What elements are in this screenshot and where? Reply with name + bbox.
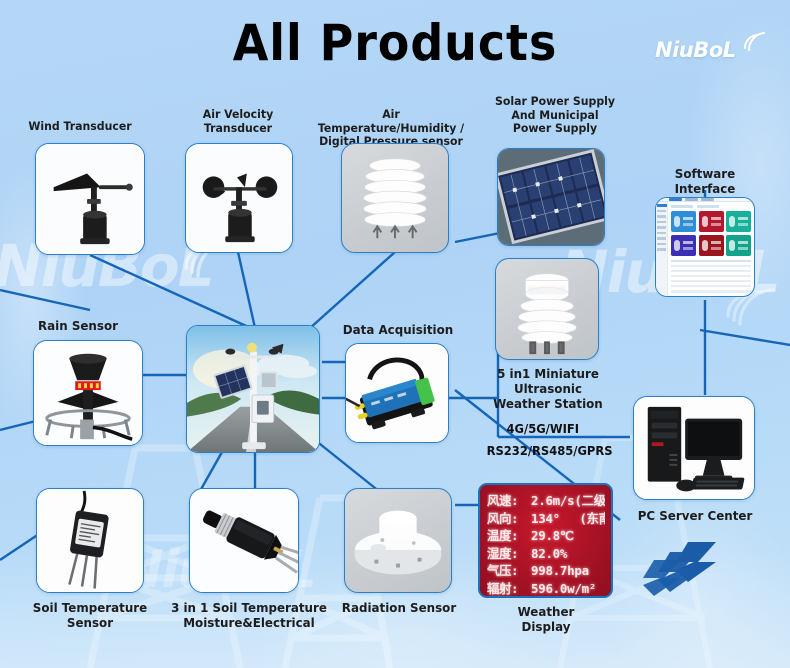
led-value: 998.7hpa	[531, 563, 589, 578]
card-pc-server-center[interactable]	[633, 396, 755, 500]
anemometer-image	[186, 144, 292, 252]
table-row	[671, 280, 751, 283]
caption-software-interface: Software Interface	[643, 166, 767, 196]
led-value: 134° (东南)	[531, 508, 605, 526]
led-label: 辐射:	[487, 578, 531, 596]
rain-gauge-image	[34, 341, 142, 445]
card-rain-sensor[interactable]	[33, 340, 143, 446]
radiation-sensor-image	[345, 489, 451, 592]
card-soil-temperature-sensor[interactable]	[36, 488, 144, 593]
caption-ultrasonic-weather-station: 5 in1 Miniature Ultrasonic Weather Stati…	[466, 366, 629, 411]
software-breadcrumb	[671, 205, 751, 208]
card-air-velocity-transducer[interactable]	[185, 143, 293, 253]
card-weather-display[interactable]: 风速: 2.6m/s(二级) 风向: 134° (东南) 温度: 29.8℃ 湿…	[478, 483, 613, 598]
led-row: 风向: 134° (东南)	[487, 508, 605, 526]
ultrasonic-station-image	[496, 259, 598, 359]
led-row: 温度: 29.8℃	[487, 525, 605, 543]
led-label: 风向:	[487, 508, 531, 526]
metric-tile[interactable]	[699, 235, 724, 256]
caption-pc-server-center: PC Server Center	[630, 508, 759, 523]
led-value: 596.0w/m²	[531, 581, 596, 596]
radiation-shield-image	[342, 144, 448, 252]
card-ultrasonic-weather-station[interactable]	[495, 258, 599, 360]
sidebar-item[interactable]	[657, 232, 666, 235]
metric-tile[interactable]	[726, 235, 751, 256]
caption-radiation-sensor: Radiation Sensor	[340, 600, 458, 615]
led-label: 气压:	[487, 560, 531, 578]
wind-vane-image	[36, 144, 144, 254]
caption-soil-temperature-sensor: Soil Temperature Sensor	[9, 600, 171, 630]
sidebar-item[interactable]	[657, 226, 666, 229]
caption-rain-sensor: Rain Sensor	[21, 318, 135, 333]
tab-tertiary[interactable]	[701, 198, 714, 201]
caption-data-acquisition: Data Acquisition	[336, 322, 460, 337]
sidebar-item[interactable]	[657, 221, 666, 224]
led-row: 气压: 998.7hpa	[487, 560, 605, 578]
breadcrumb-segment	[697, 205, 719, 208]
table-row	[671, 285, 751, 288]
card-air-temperature-humidity-pressure[interactable]	[341, 143, 449, 253]
card-solar-power-supply[interactable]	[497, 148, 605, 246]
tab-secondary[interactable]	[685, 198, 698, 201]
table-row	[671, 290, 751, 293]
card-data-acquisition[interactable]	[345, 343, 449, 443]
brand-logo: NiuBoL	[655, 38, 736, 62]
pc-server-image	[634, 397, 754, 499]
sidebar-item[interactable]	[657, 237, 666, 240]
led-label: 湿度:	[487, 543, 531, 561]
caption-soil-3in1-sensor: 3 in 1 Soil Temperature Moisture&Electri…	[170, 600, 328, 630]
metric-tile[interactable]	[671, 211, 696, 232]
led-row: 风速: 2.6m/s(二级)	[487, 490, 605, 508]
caption-solar-power-supply: Solar Power Supply And Municipal Power S…	[489, 95, 622, 136]
brand-signal-icon	[740, 30, 766, 52]
caption-wind-transducer: Wind Transducer	[14, 120, 147, 134]
sidebar-item[interactable]	[657, 248, 666, 251]
metric-tile[interactable]	[671, 235, 696, 256]
table-row	[671, 270, 751, 273]
brand-logo-text: NiuBoL	[655, 38, 736, 62]
card-software-interface[interactable]	[655, 197, 755, 297]
page-title: All Products	[32, 14, 759, 72]
metric-tile[interactable]	[726, 211, 751, 232]
card-center-weather-station[interactable]	[186, 325, 320, 453]
software-metric-tiles	[671, 211, 751, 256]
table-row	[671, 275, 751, 278]
label-wireless-protocols: 4G/5G/WIFI	[507, 422, 580, 436]
tab-active[interactable]	[669, 198, 682, 201]
solar-panel-image	[498, 149, 604, 245]
led-label: 风速:	[487, 490, 531, 508]
led-value: 29.8℃	[531, 528, 574, 543]
led-row: 辐射: 596.0w/m²	[487, 578, 605, 596]
breadcrumb-segment	[671, 205, 693, 208]
software-sidebar	[656, 202, 668, 297]
caption-air-velocity-transducer: Air Velocity Transducer	[176, 108, 300, 135]
led-value: 82.0%	[531, 546, 567, 561]
sidebar-item[interactable]	[657, 215, 666, 218]
sidebar-item[interactable]	[657, 204, 667, 207]
weather-station-photo	[187, 326, 319, 452]
metric-tile[interactable]	[699, 211, 724, 232]
led-value: 2.6m/s(二级)	[531, 490, 605, 508]
chevron-arrows-icon	[640, 540, 730, 600]
card-radiation-sensor[interactable]	[344, 488, 452, 593]
label-wired-protocols: RS232/RS485/GPRS	[487, 444, 613, 458]
software-data-table	[671, 260, 751, 293]
led-row: 湿度: 82.0%	[487, 543, 605, 561]
sidebar-item[interactable]	[657, 210, 666, 213]
soil-temperature-sensor-image	[37, 489, 143, 592]
caption-weather-display: Weather Display	[493, 604, 599, 634]
table-header-row	[671, 260, 751, 263]
card-wind-transducer[interactable]	[35, 143, 145, 255]
product-diagram-canvas: NiuBoL NiuBoL NiuBoL All Products NiuBoL	[0, 0, 790, 668]
led-label: 温度:	[487, 525, 531, 543]
table-row	[671, 265, 751, 268]
sidebar-item[interactable]	[657, 243, 666, 246]
dtu-module-image	[346, 344, 448, 442]
soil-3in1-sensor-image	[190, 489, 298, 592]
card-soil-3in1-sensor[interactable]	[189, 488, 299, 593]
